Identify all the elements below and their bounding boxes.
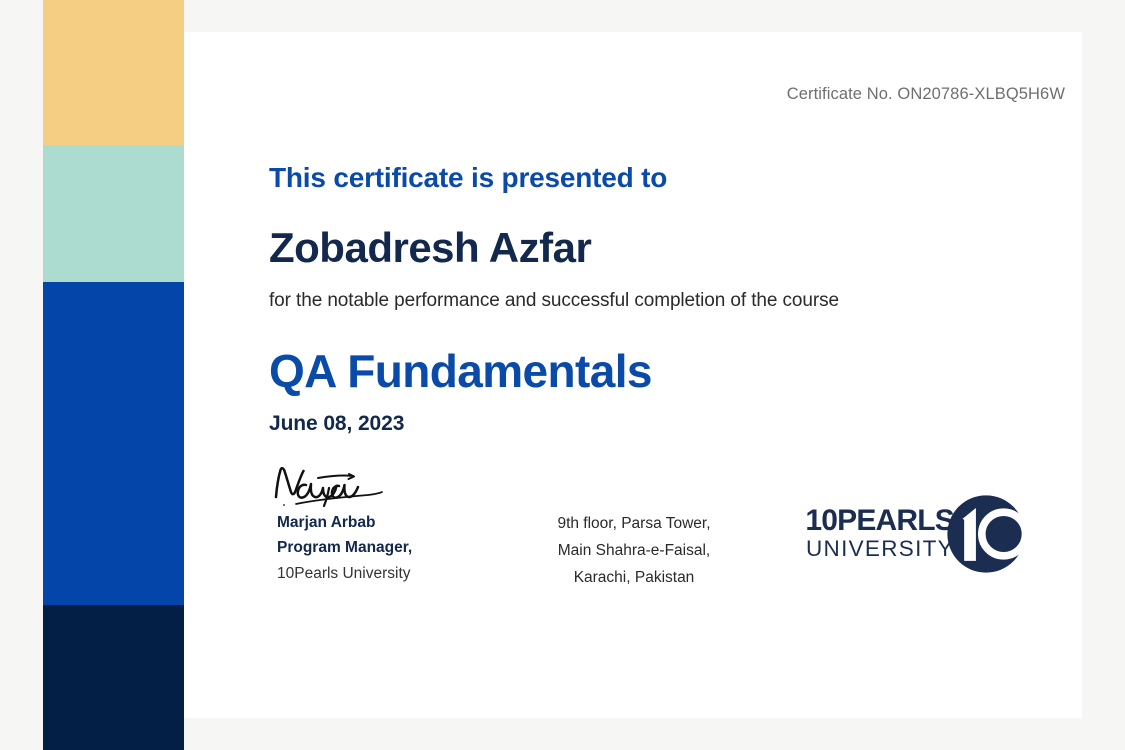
address-line-1: 9th floor, Parsa Tower, (519, 510, 749, 537)
address-line-3: Karachi, Pakistan (519, 564, 749, 591)
logo-wordmark: 10PEARLS UNIVERSITY (782, 506, 954, 562)
certificate-page: Certificate No. ON20786-XLBQ5H6W This ce… (0, 0, 1125, 750)
presented-to-label: This certificate is presented to (269, 162, 667, 194)
certificate-number: Certificate No. ON20786-XLBQ5H6W (787, 85, 1065, 104)
address-line-2: Main Shahra-e-Faisal, (519, 537, 749, 564)
color-band-mint (43, 145, 184, 282)
certificate-footer: Marjan Arbab Program Manager, 10Pearls U… (269, 462, 1059, 612)
issue-date: June 08, 2023 (269, 412, 404, 436)
brand-logo: 10PEARLS UNIVERSITY (774, 492, 1034, 582)
address-block: 9th floor, Parsa Tower, Main Shahra-e-Fa… (519, 510, 749, 591)
logo-brand-text: 10PEARLS (782, 506, 954, 536)
color-band-navy (43, 605, 184, 750)
logo-subbrand-text: UNIVERSITY (782, 536, 954, 562)
ten-circle-logo-icon (944, 492, 1028, 576)
signer-organization: 10Pearls University (277, 560, 479, 588)
color-band-orange (43, 0, 184, 145)
color-band-blue (43, 282, 184, 605)
course-title: QA Fundamentals (269, 344, 652, 398)
signer-role: Program Manager, (277, 535, 479, 560)
signature-block: Marjan Arbab Program Manager, 10Pearls U… (269, 462, 479, 588)
signer-name: Marjan Arbab (277, 510, 479, 535)
decorative-color-bar (43, 0, 184, 750)
recipient-name: Zobadresh Azfar (269, 224, 591, 272)
completion-statement: for the notable performance and successf… (269, 290, 839, 312)
handwritten-signature-icon (269, 462, 399, 510)
